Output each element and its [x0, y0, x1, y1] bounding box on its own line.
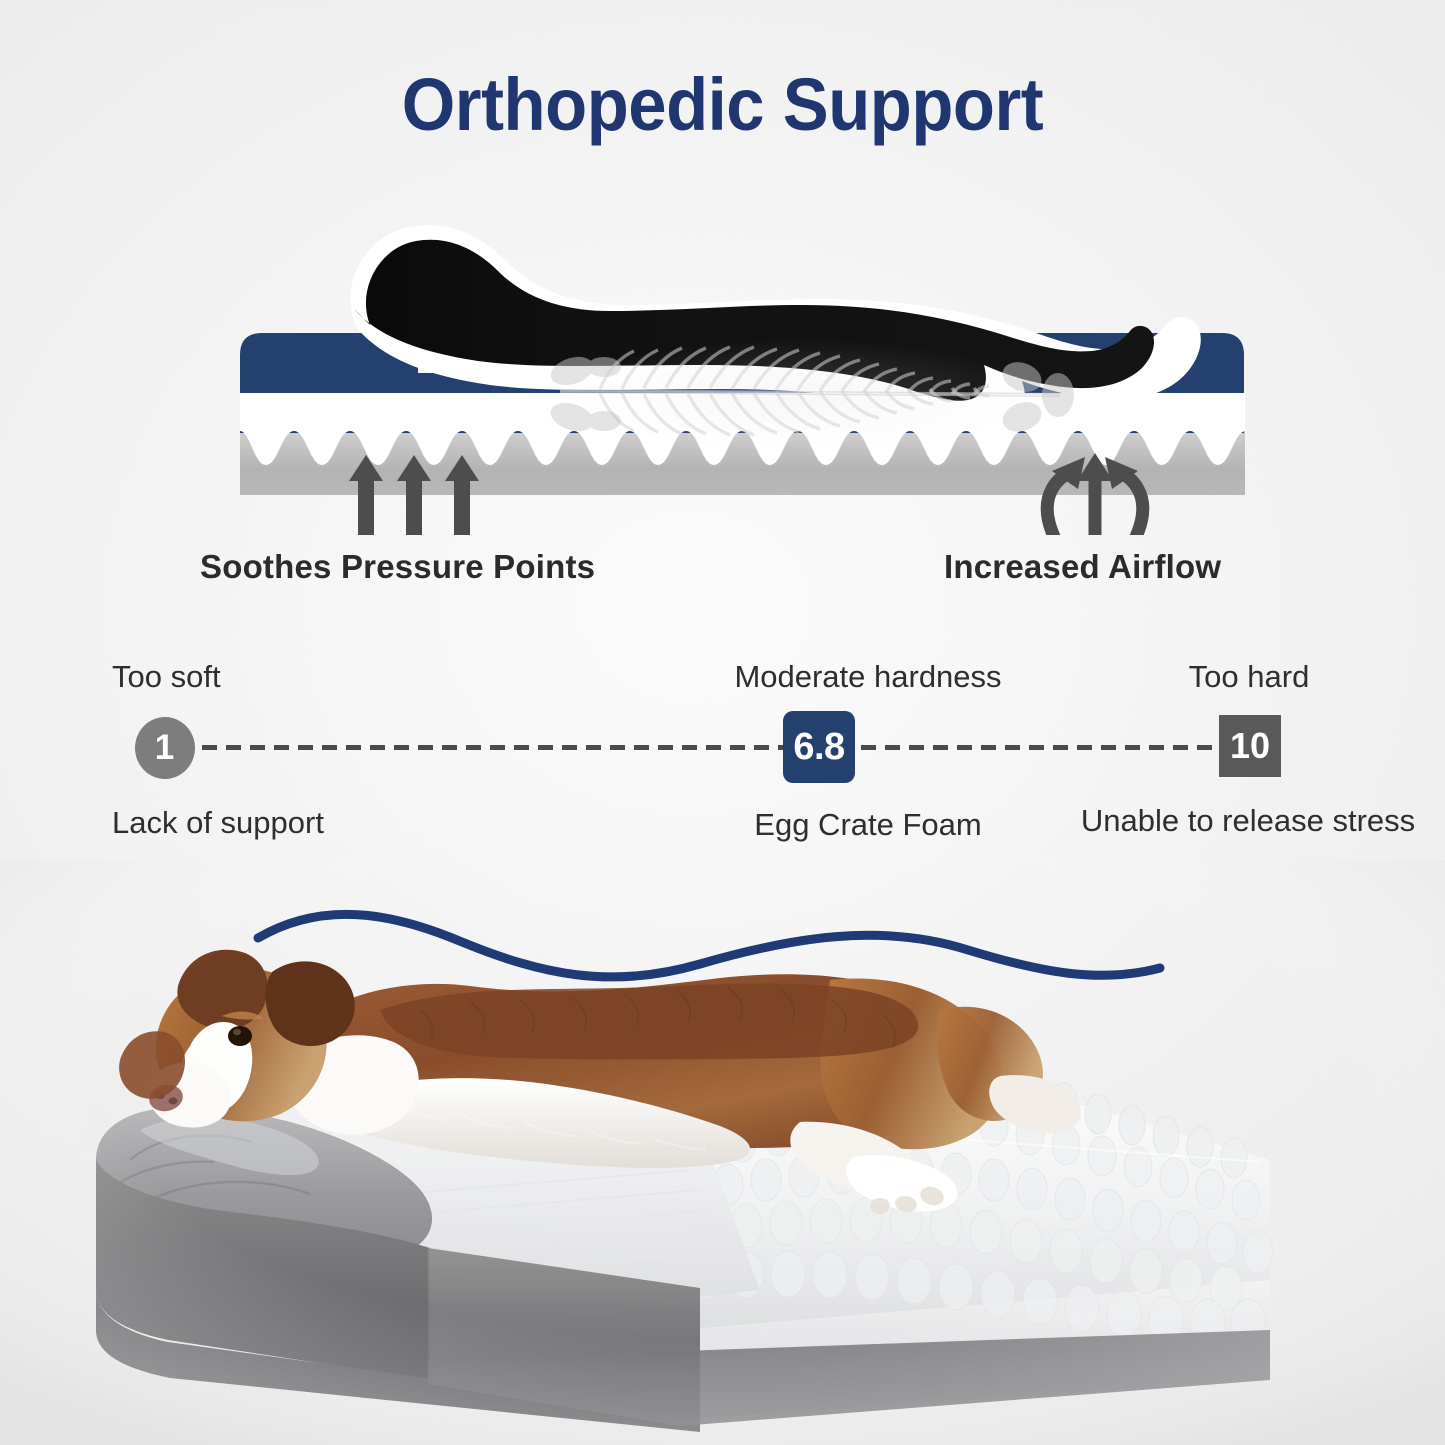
pressure-arrows	[349, 455, 479, 535]
scale-caption-unable-to-release-stress: Unable to release stress	[1023, 803, 1445, 839]
scale-badge-value: 6.8	[783, 711, 855, 783]
scale-dashed-line-right	[861, 745, 1251, 750]
scale-badge-min: 1	[135, 717, 195, 779]
page-title: Orthopedic Support	[51, 62, 1395, 147]
scale-caption-too-hard: Too hard	[1149, 659, 1349, 695]
product-photo	[0, 860, 1445, 1445]
scale-badge-max: 10	[1219, 715, 1281, 777]
scale-caption-lack-of-support: Lack of support	[112, 805, 217, 841]
scale-caption-too-soft: Too soft	[112, 659, 217, 695]
scale-track	[178, 745, 1251, 750]
hardness-scale: Too soft 1 Lack of support Moderate hard…	[0, 655, 1445, 835]
scale-caption-moderate-hardness: Moderate hardness	[630, 659, 1106, 695]
foam-cross-section-diagram	[0, 195, 1445, 535]
soothes-pressure-points-label: Soothes Pressure Points	[200, 548, 595, 586]
increased-airflow-label: Increased Airflow	[944, 548, 1221, 586]
scale-dashed-line-left	[178, 745, 803, 750]
